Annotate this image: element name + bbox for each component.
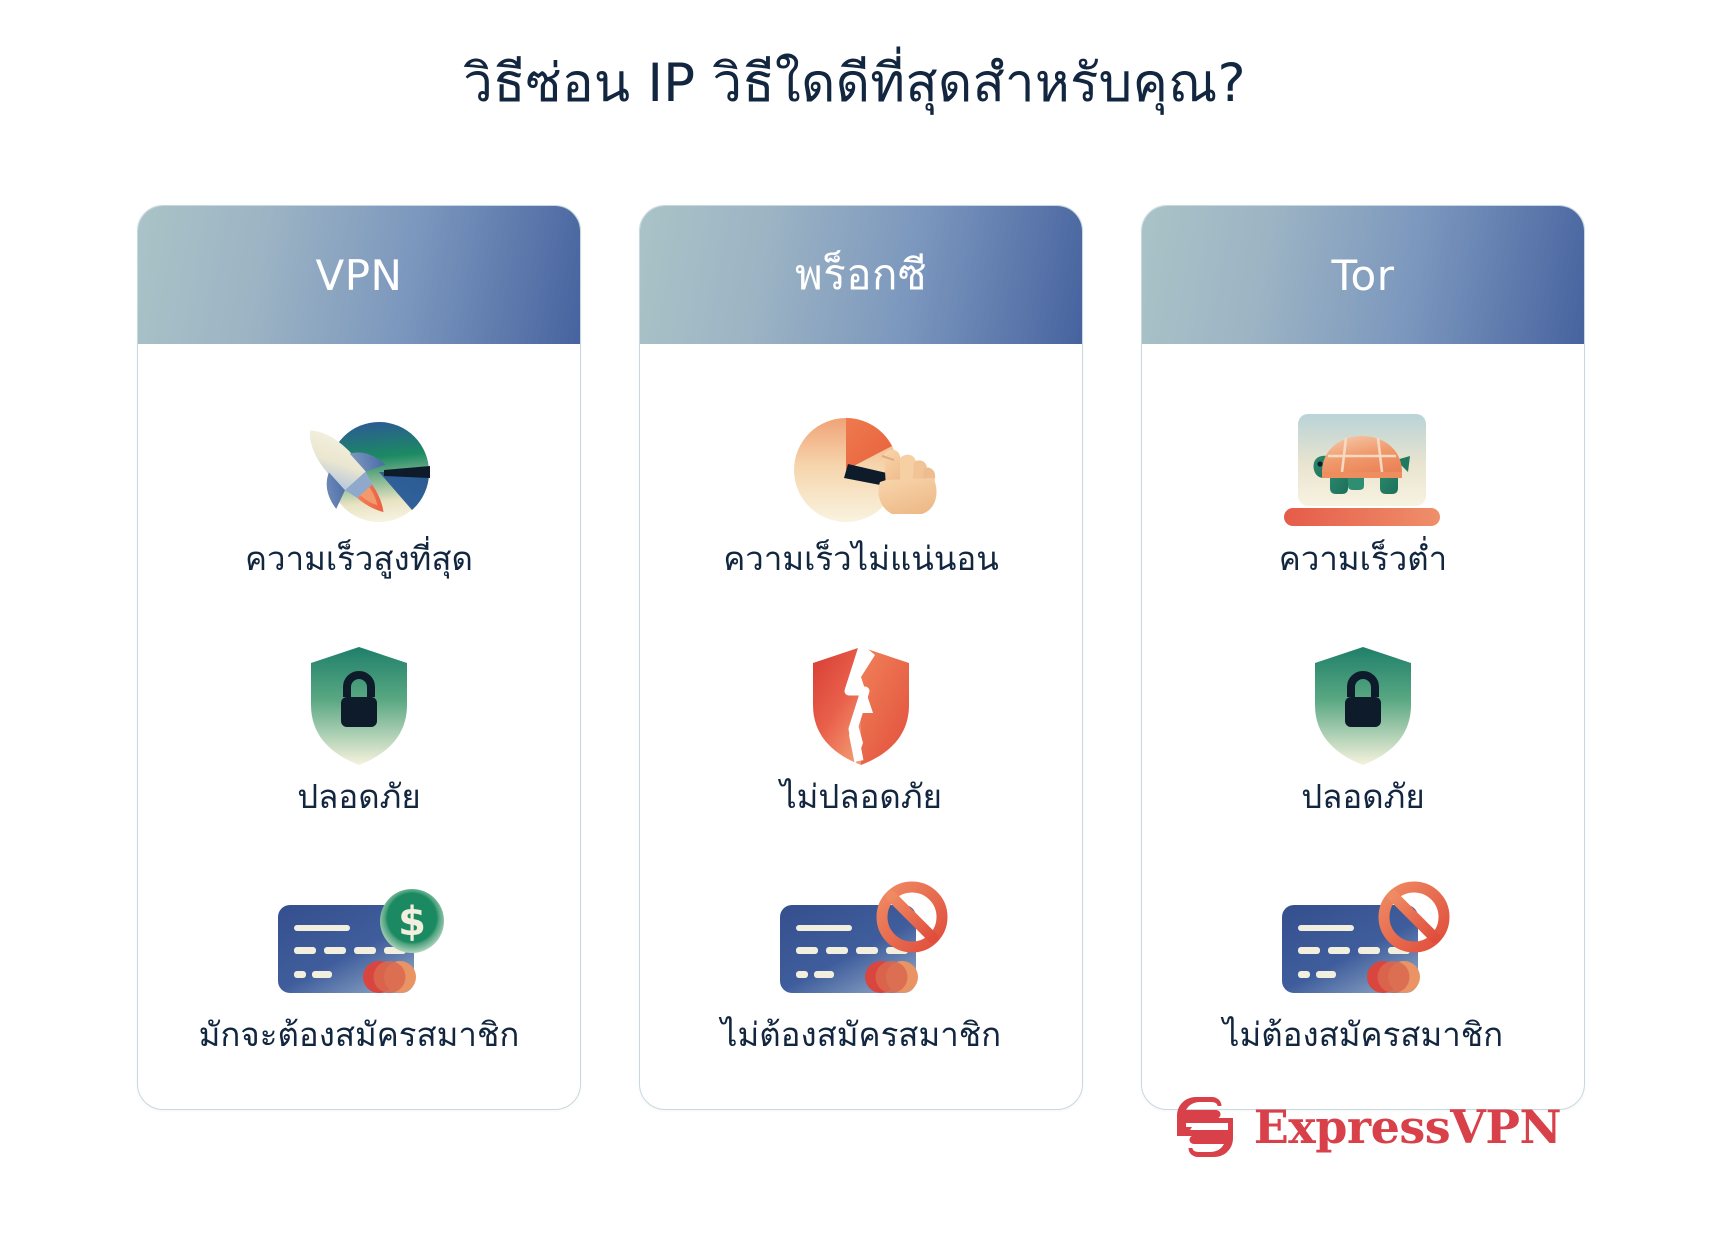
feature-payment-vpn: $ มักจะต้องสมัครสมาชิก: [148, 849, 570, 1087]
feature-payment-proxy: ไม่ต้องสมัครสมาชิก: [650, 849, 1072, 1087]
feature-speed-proxy: ความเร็วไม่แน่นอน: [650, 372, 1072, 610]
infographic-page: วิธีซ่อน IP วิธีใดดีที่สุดสำหรับคุณ? VPN: [0, 0, 1709, 1240]
expressvpn-e-mark-icon: [1172, 1094, 1238, 1160]
rocket-speedometer-icon: [264, 402, 454, 534]
laptop-turtle-icon: [1268, 402, 1458, 534]
gauge-hand-icon: [766, 402, 956, 534]
credit-card-no-icon: [1268, 878, 1458, 1010]
feature-label-payment-tor: ไม่ต้องสมัครสมาชิก: [1217, 1014, 1509, 1057]
card-header-tor: Tor: [1142, 206, 1584, 344]
card-vpn: VPN: [137, 205, 581, 1110]
feature-security-tor: ปลอดภัย: [1152, 610, 1574, 848]
shield-lock-icon: [1307, 640, 1419, 772]
card-header-vpn: VPN: [138, 206, 580, 344]
credit-card-no-icon: [766, 878, 956, 1010]
feature-payment-tor: ไม่ต้องสมัครสมาชิก: [1152, 849, 1574, 1087]
card-body-vpn: ความเร็วสูงที่สุด: [138, 344, 580, 1109]
feature-label-security-proxy: ไม่ปลอดภัย: [774, 776, 948, 819]
feature-label-payment-proxy: ไม่ต้องสมัครสมาชิก: [715, 1014, 1007, 1057]
feature-security-proxy: ไม่ปลอดภัย: [650, 610, 1072, 848]
feature-label-payment-vpn: มักจะต้องสมัครสมาชิก: [193, 1014, 526, 1057]
card-title-proxy: พร็อกซี: [795, 242, 927, 308]
page-title: วิธีซ่อน IP วิธีใดดีที่สุดสำหรับคุณ?: [0, 52, 1709, 116]
card-header-proxy: พร็อกซี: [640, 206, 1082, 344]
credit-card-dollar-icon: $: [264, 878, 454, 1010]
feature-speed-vpn: ความเร็วสูงที่สุด: [148, 372, 570, 610]
feature-label-security-vpn: ปลอดภัย: [291, 776, 427, 819]
feature-label-speed-tor: ความเร็วต่ำ: [1273, 538, 1453, 581]
feature-speed-tor: ความเร็วต่ำ: [1152, 372, 1574, 610]
expressvpn-logo: ExpressVPN: [1172, 1094, 1561, 1160]
card-body-proxy: ความเร็วไม่แน่นอน: [640, 344, 1082, 1109]
card-title-vpn: VPN: [316, 251, 403, 300]
card-title-tor: Tor: [1332, 251, 1395, 300]
comparison-cards: VPN: [137, 205, 1585, 1110]
feature-security-vpn: ปลอดภัย: [148, 610, 570, 848]
feature-label-speed-proxy: ความเร็วไม่แน่นอน: [717, 538, 1005, 581]
shield-lock-icon: [303, 640, 415, 772]
card-tor: Tor: [1141, 205, 1585, 1110]
svg-text:$: $: [398, 899, 426, 945]
feature-label-speed-vpn: ความเร็วสูงที่สุด: [239, 538, 479, 581]
expressvpn-wordmark: ExpressVPN: [1254, 1100, 1561, 1154]
feature-label-security-tor: ปลอดภัย: [1295, 776, 1431, 819]
shield-broken-icon: [805, 640, 917, 772]
card-proxy: พร็อกซี: [639, 205, 1083, 1110]
card-body-tor: ความเร็วต่ำ: [1142, 344, 1584, 1109]
